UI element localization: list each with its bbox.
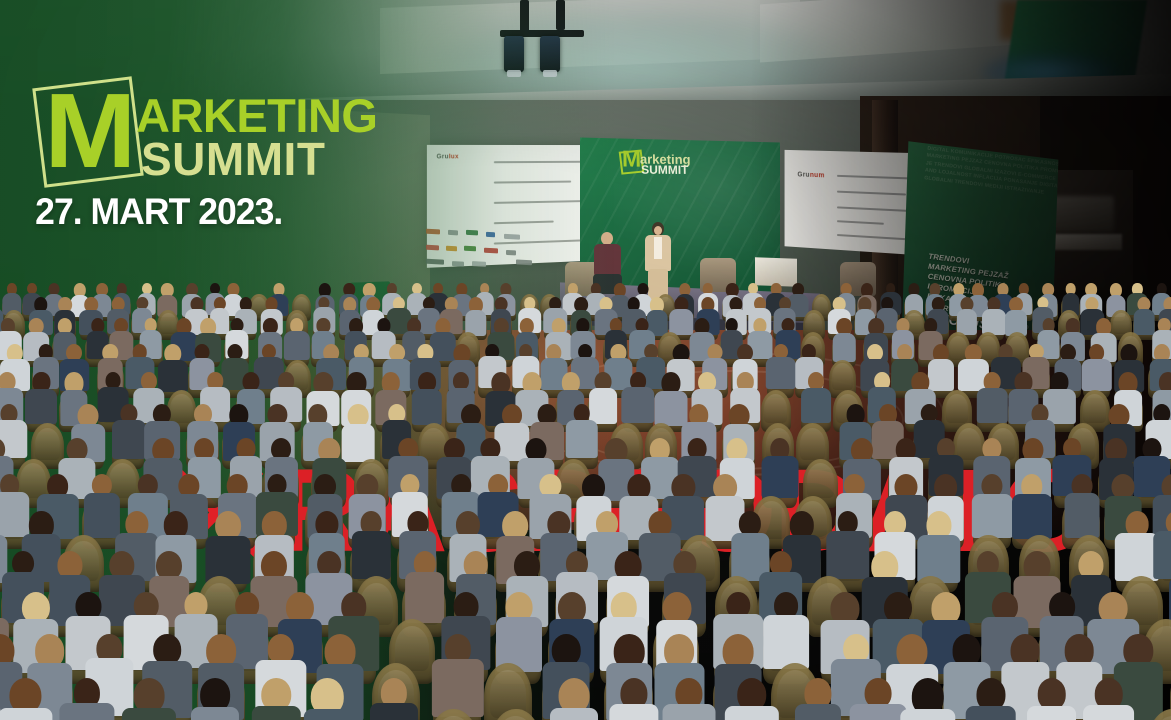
person-torso [284,331,310,360]
audience-person [659,678,718,720]
person-torso [609,704,658,720]
marketing-summit-logo: M ARKETING SUMMIT [36,78,366,188]
audience-person [722,678,781,720]
person-torso [621,387,654,422]
audience-person [463,297,488,334]
audience-person [899,678,958,720]
audience-person [975,372,1009,423]
audience-person [110,404,147,459]
person-torso [917,535,960,583]
audience-person [1081,344,1112,390]
audience-person [1010,474,1054,538]
person-torso [1012,494,1052,539]
person-torso [550,708,598,720]
audience-person [364,678,423,720]
audience-person [1022,678,1081,720]
person-torso [191,707,239,720]
audience-person [1003,297,1028,334]
audience-crowd [0,240,1171,720]
person-torso [304,709,350,720]
person-torso [795,704,841,720]
audience-person [348,511,395,580]
logo-word-summit: SUMMIT [141,136,325,182]
event-date: 27. MART 2023. [35,192,282,232]
person-torso [370,703,418,720]
person-torso [412,389,442,424]
person-torso [662,704,715,720]
person-torso [900,709,955,720]
audience-person [283,318,311,359]
audience-person [961,678,1020,720]
logo-initial-m: M [44,84,132,178]
audience-person [1079,678,1138,720]
person-torso [724,706,778,720]
person-torso [122,708,176,720]
person-torso [252,706,300,720]
audience-person [204,511,251,580]
audience-person [247,678,306,720]
event-promo-banner: GruIux Grunum [0,0,1171,720]
audience-person [545,678,604,720]
person-torso [0,708,52,720]
logo-word-marketing: ARKETING [136,92,377,139]
person-torso [405,572,445,623]
person-torso [112,420,146,458]
audience-person [493,592,546,670]
audience-person [120,678,179,720]
audience-person [563,404,600,459]
audience-person [1060,474,1104,538]
person-torso [25,389,57,424]
person-torso [765,357,795,389]
person-torso [763,615,809,669]
person-torso [431,659,483,717]
person-torso [982,309,1006,335]
audience-person [430,634,486,717]
audience-person [298,678,357,720]
audience-person [830,318,858,359]
audience-person [789,678,848,720]
audience-person [760,438,800,498]
person-torso [833,333,856,362]
audience-person [760,592,813,670]
person-torso [957,309,977,335]
person-torso [801,388,831,423]
person-torso [352,531,390,579]
audience-person [954,297,979,334]
person-torso [762,456,799,498]
audience-person [24,372,58,423]
person-torso [965,706,1016,720]
person-torso [1083,705,1135,720]
person-torso [972,494,1012,539]
audience-person [799,372,833,423]
audience-person [1167,634,1171,717]
audience-person [0,678,55,720]
audience-person [605,678,664,720]
audience-person [185,678,244,720]
audience-person [621,372,655,423]
audience-person [970,474,1014,538]
person-torso [977,388,1007,423]
audience-person [915,511,962,580]
person-torso [1027,706,1077,720]
person-torso [1081,359,1111,391]
person-torso [1064,493,1099,538]
person-torso [565,420,598,458]
person-torso [60,703,115,720]
audience-person [58,678,117,720]
audience-person [765,344,796,390]
